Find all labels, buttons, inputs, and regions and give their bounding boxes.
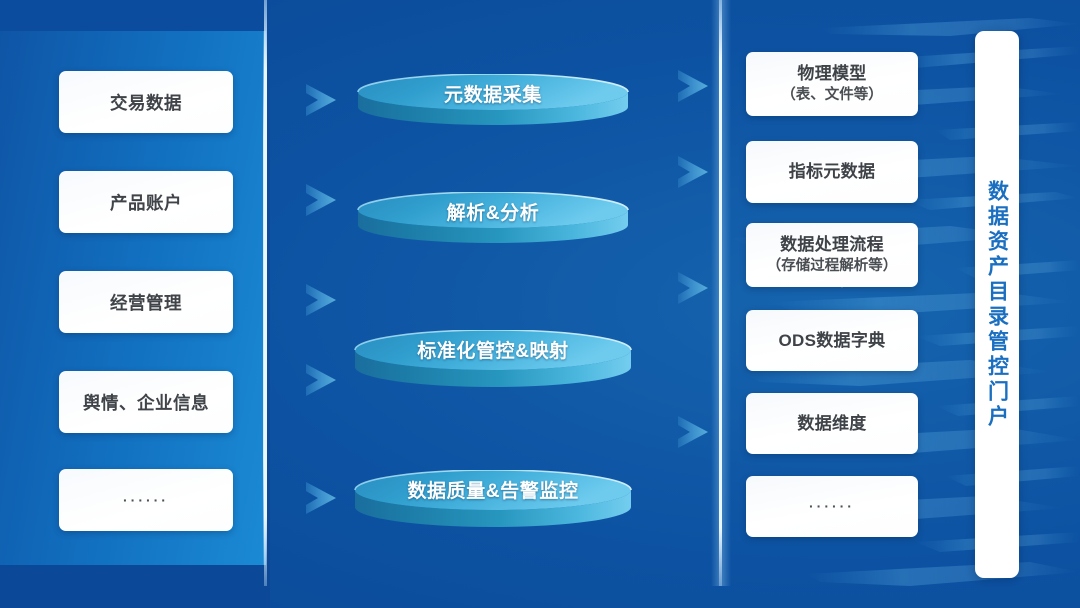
diagram-canvas: 交易数据 产品账户 经营管理 舆情、企业信息 ······ 元数据采集 [0,0,1080,608]
source-card-more-label: ······ [123,492,169,508]
output-card-more[interactable]: ······ [746,476,918,537]
output-card-3-subtitle: （存储过程解析等） [767,257,898,276]
portal-panel[interactable]: 数据资产目录管控门户 [975,31,1019,578]
arrow-right-icon [676,66,710,106]
arrow-right-icon [304,280,338,320]
arrow-right-icon [304,478,338,518]
source-card-more[interactable]: ······ [59,469,233,531]
arrow-right-icon [304,80,338,120]
process-stage-2[interactable]: 解析&分析 [352,192,634,250]
output-card-2-title: 指标元数据 [789,161,876,182]
output-card-5[interactable]: 数据维度 [746,393,918,454]
arrow-right-icon [676,412,710,452]
output-card-4-title: ODS数据字典 [779,330,886,351]
process-column: 元数据采集 解析&分析 标准化管控&映射 [352,0,642,608]
source-column: 交易数据 产品账户 经营管理 舆情、企业信息 ······ [59,0,233,608]
source-card-1-label: 交易数据 [110,90,182,115]
arrow-right-icon [676,152,710,192]
process-stage-3[interactable]: 标准化管控&映射 [352,330,634,394]
output-card-4[interactable]: ODS数据字典 [746,310,918,371]
output-card-1-title: 物理模型 [797,63,866,84]
process-stage-4-label: 数据质量&告警监控 [352,476,634,503]
process-stage-2-label: 解析&分析 [352,198,634,225]
divider-right [719,0,722,586]
process-stage-3-label: 标准化管控&映射 [352,336,634,363]
process-stage-1[interactable]: 元数据采集 [352,74,634,132]
output-card-more-label: ······ [809,498,855,516]
output-card-3-title: 数据处理流程 [780,234,884,255]
source-card-1[interactable]: 交易数据 [59,71,233,133]
source-card-4-label: 舆情、企业信息 [83,390,209,415]
output-column: 物理模型 （表、文件等） 指标元数据 数据处理流程 （存储过程解析等） ODS数… [746,0,918,608]
source-card-4[interactable]: 舆情、企业信息 [59,371,233,433]
source-card-2-label: 产品账户 [110,190,182,215]
output-card-2[interactable]: 指标元数据 [746,141,918,203]
output-card-5-title: 数据维度 [797,413,866,434]
arrow-right-icon [304,360,338,400]
output-card-3[interactable]: 数据处理流程 （存储过程解析等） [746,223,918,287]
portal-panel-label: 数据资产目录管控门户 [987,180,1008,430]
process-stage-1-label: 元数据采集 [352,80,634,107]
output-card-1[interactable]: 物理模型 （表、文件等） [746,52,918,116]
source-card-3[interactable]: 经营管理 [59,271,233,333]
process-stage-4[interactable]: 数据质量&告警监控 [352,470,634,534]
arrow-right-icon [304,180,338,220]
arrow-right-icon [676,268,710,308]
divider-left [264,0,267,586]
output-card-1-subtitle: （表、文件等） [781,86,883,105]
source-card-2[interactable]: 产品账户 [59,171,233,233]
source-card-3-label: 经营管理 [110,290,182,315]
